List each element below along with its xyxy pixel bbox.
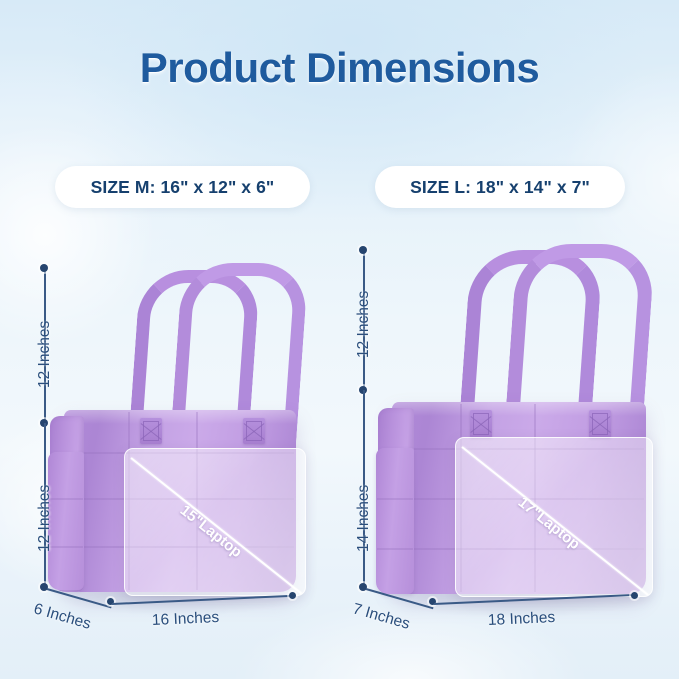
bag-quilt-line (49, 498, 83, 500)
bag-quilt-line (49, 546, 83, 548)
handle-tab-right-l (589, 410, 611, 438)
dimension-label-handle-m: 12 Inches (36, 321, 54, 388)
background-glow-left (0, 120, 160, 350)
dimension-label-width-m: 16 Inches (152, 609, 220, 630)
size-badge-l: SIZE L: 18" x 14" x 7" (375, 166, 625, 208)
bag-side-pocket-l (376, 448, 414, 594)
bag-quilt-line (377, 498, 413, 500)
laptop-overlay-m (124, 448, 306, 596)
page-title: Product Dimensions (0, 44, 679, 92)
dimension-label-handle-l: 12 Inches (355, 291, 373, 358)
handle-tab-right-m (243, 418, 265, 444)
dimension-endpoint-dot (40, 264, 48, 272)
dimension-endpoint-dot (631, 592, 638, 599)
dimension-label-height-m: 12 Inches (36, 485, 54, 552)
bag-quilt-line (377, 548, 413, 550)
handle-tab-left-m (140, 418, 162, 444)
size-badge-m: SIZE M: 16" x 12" x 6" (55, 166, 310, 208)
dimension-endpoint-dot (289, 592, 296, 599)
handle-tab-left-l (470, 410, 492, 438)
dimension-endpoint-dot (359, 246, 367, 254)
dimension-label-height-l: 14 Inches (355, 485, 373, 552)
product-dimensions-infographic: Product Dimensions SIZE M: 16" x 12" x 6… (0, 0, 679, 679)
dimension-label-width-l: 18 Inches (488, 609, 556, 630)
